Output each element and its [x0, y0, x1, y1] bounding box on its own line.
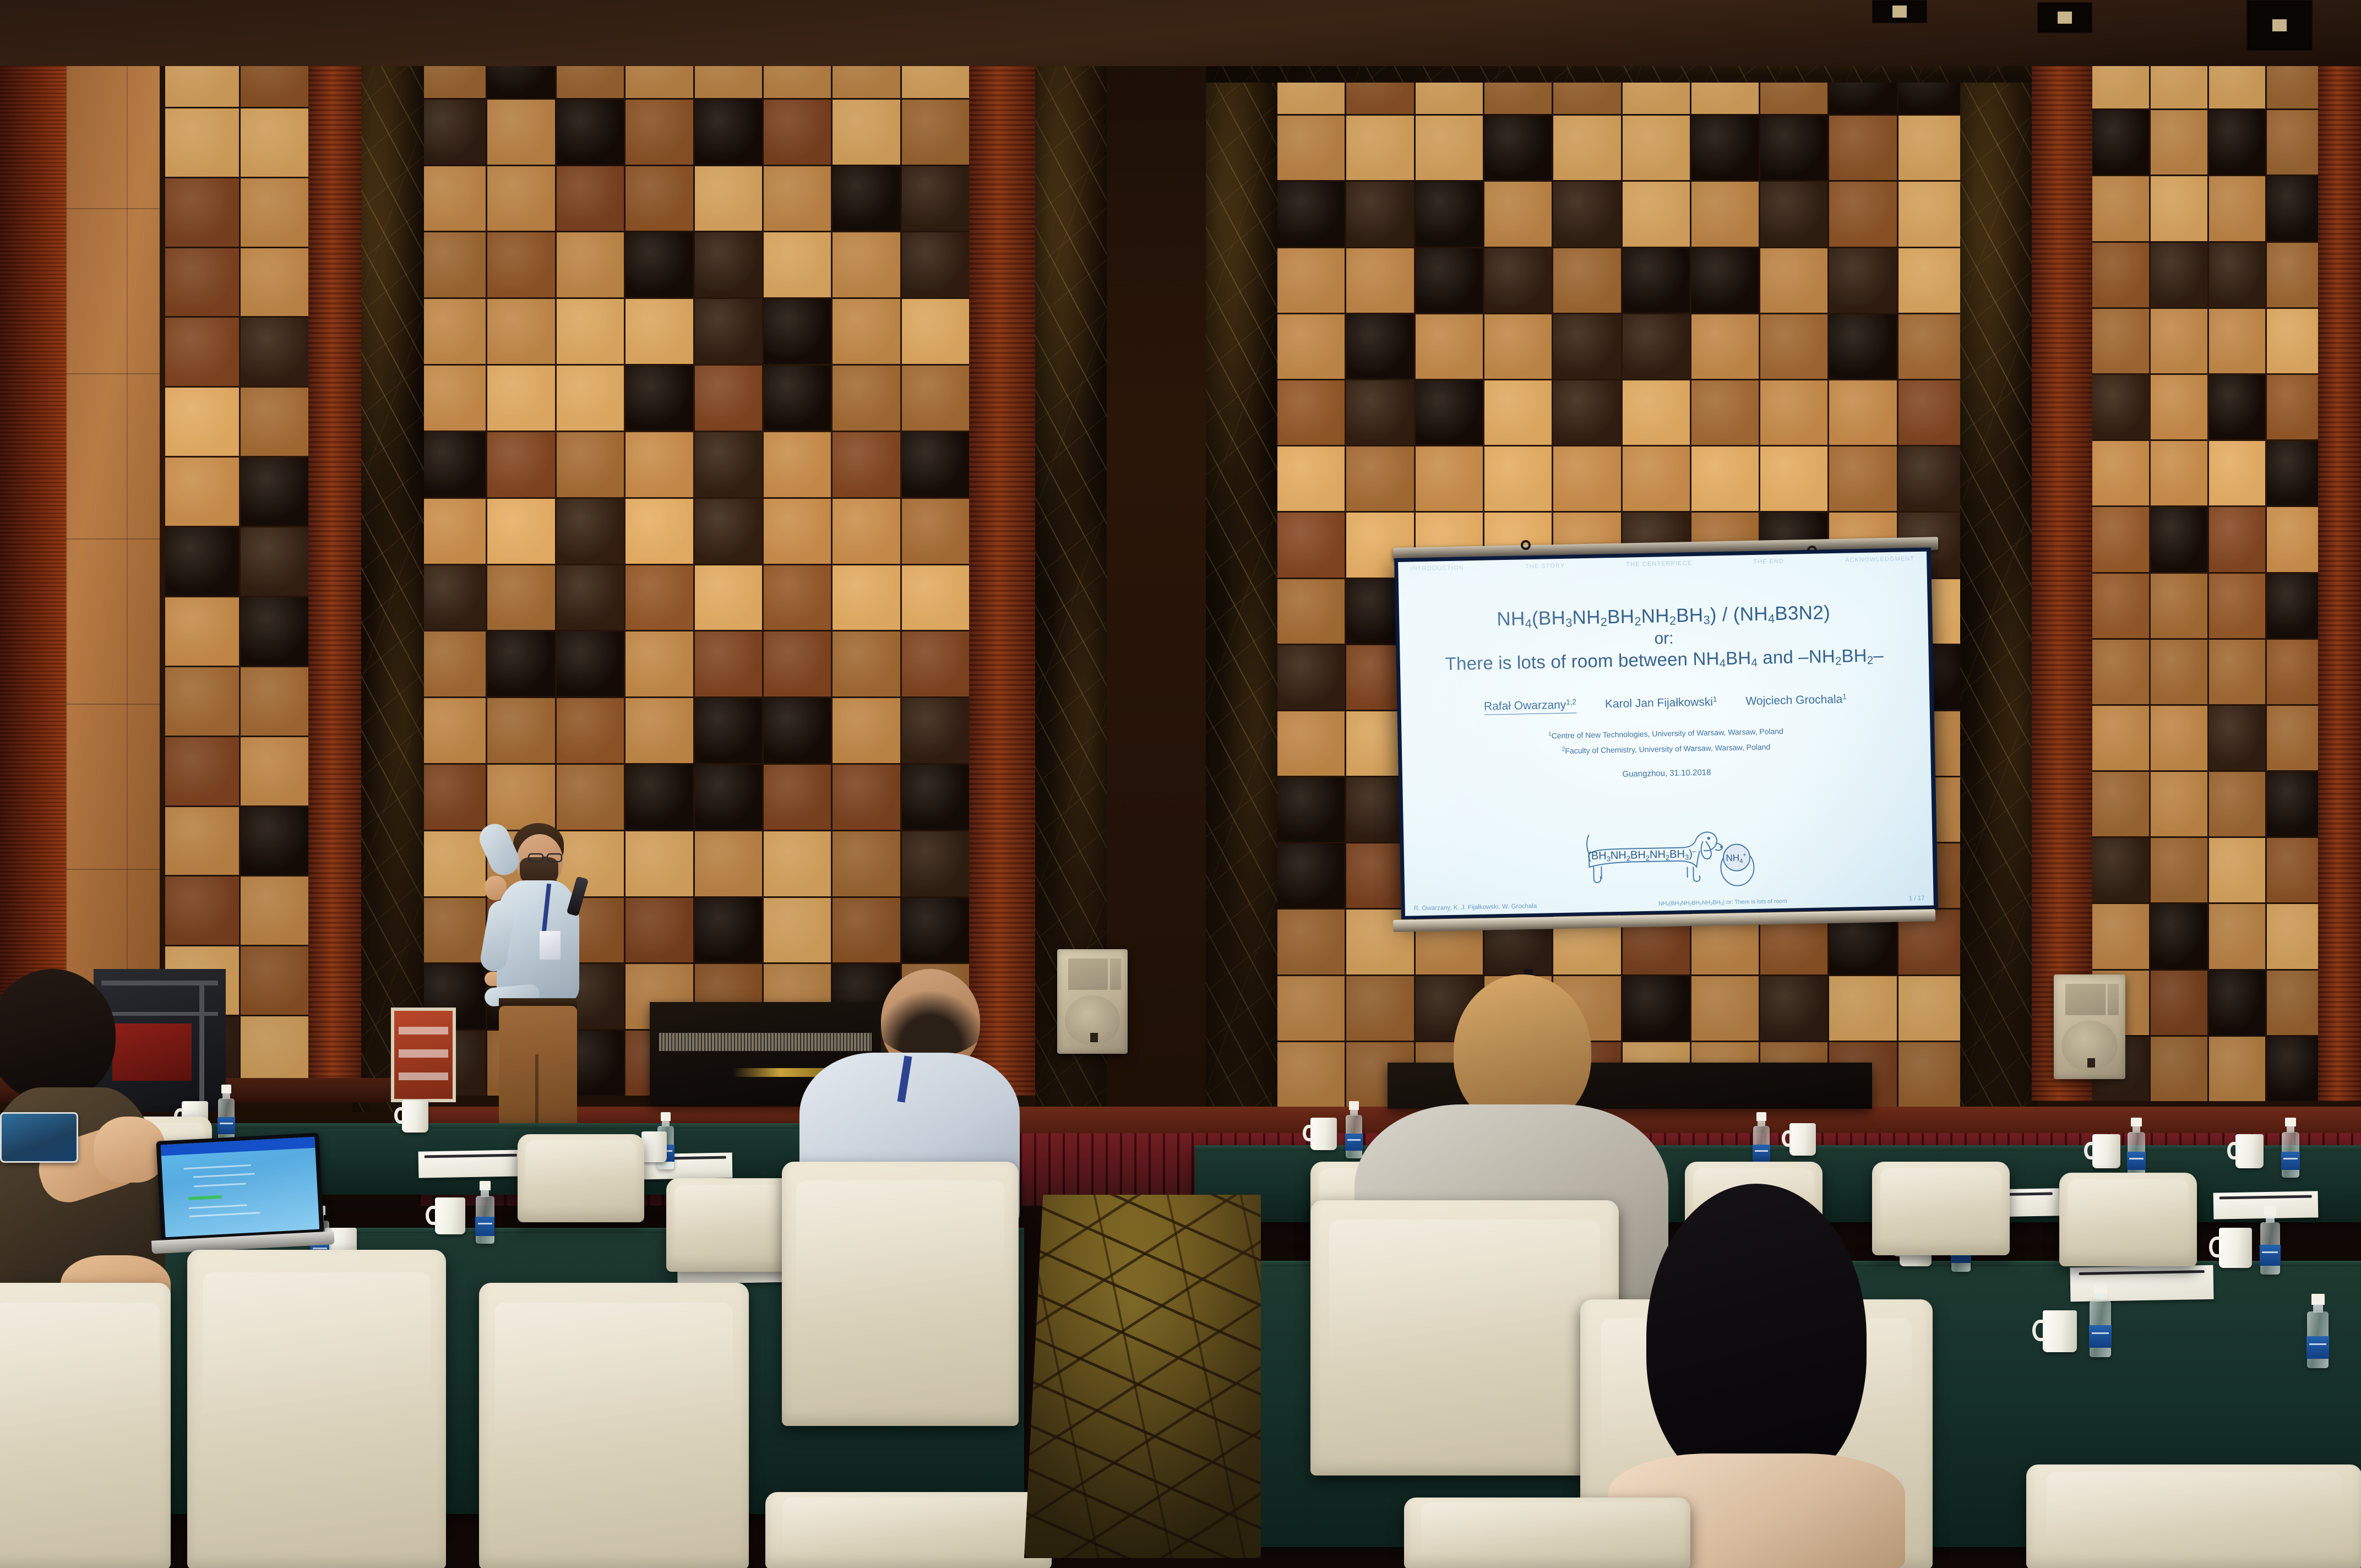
wall-tile: [2267, 110, 2324, 175]
wall-tile: [1346, 116, 1413, 180]
wall-tile: [1416, 182, 1483, 246]
chair-f2: [187, 1250, 446, 1568]
mug-body: [402, 1100, 428, 1133]
wall-tile: [487, 631, 554, 696]
wall-tile: [1553, 447, 1620, 511]
wall-tile: [902, 765, 969, 830]
wall-tile: [1898, 182, 1966, 246]
wall-tile: [1346, 447, 1413, 511]
wall-tile: [1623, 380, 1690, 445]
chair-f1: [0, 1283, 171, 1568]
bottle-cap: [2131, 1118, 2141, 1126]
wall-tile: [2151, 904, 2207, 968]
wall-tile: [764, 232, 831, 297]
wall-tile: [241, 597, 314, 666]
wall-tile: [833, 232, 900, 297]
audience-laptop-hand: [94, 1117, 165, 1183]
bottle-label: [2127, 1152, 2146, 1170]
wall-tile: [487, 698, 554, 763]
ballroom-carpet: [1024, 1195, 1261, 1558]
wall-tile: [764, 499, 831, 564]
wall-tile: [764, 100, 831, 165]
wood-divider-2: [969, 0, 1035, 1096]
wall-tile: [2209, 375, 2266, 439]
wall-tile: [487, 366, 554, 431]
mug-body: [435, 1197, 465, 1234]
poster-strip-3: [399, 1072, 448, 1080]
pen: [2219, 1195, 2311, 1199]
wall-tile: [487, 432, 554, 497]
marble-column-mid: [1035, 0, 1107, 1112]
chair-f4: [765, 1492, 1052, 1568]
wall-tile: [418, 765, 486, 830]
presenter-badge: [540, 931, 561, 960]
wall-tile: [625, 299, 693, 364]
wall-tile: [695, 765, 762, 830]
pen: [2079, 1270, 2205, 1275]
wall-tile: [1898, 447, 1966, 511]
wall-tile: [1898, 976, 1966, 1041]
wall-tile: [557, 765, 624, 830]
wall-tile: [2151, 309, 2207, 373]
chair-center: [782, 1162, 1019, 1426]
wall-tile: [557, 166, 624, 231]
ceiling-sensor-1: [1872, 0, 1927, 23]
wall-tile: [1623, 447, 1690, 511]
laptop[interactable]: [156, 1133, 324, 1241]
wall-tile: [165, 458, 239, 526]
wall-tile: [1277, 1042, 1345, 1107]
author-2: Karol Jan Fijałkowski1: [1605, 695, 1717, 712]
bottle-cap: [661, 1112, 671, 1121]
mug-body: [641, 1131, 667, 1162]
bottle-cap: [2094, 1283, 2107, 1294]
mug-body: [2092, 1134, 2120, 1168]
wall-tile: [165, 737, 239, 805]
wall-tile: [418, 366, 486, 431]
wall-tile: [695, 831, 762, 896]
wall-tile: [1484, 380, 1552, 445]
wall-tile: [241, 248, 314, 317]
wall-tile: [557, 499, 624, 564]
wall-tile: [1829, 447, 1896, 511]
wall-tile: [241, 667, 314, 736]
wall-tile: [2151, 507, 2207, 571]
wall-tile: [2151, 706, 2207, 770]
wall-tile: [902, 898, 969, 963]
wall-tile: [241, 876, 314, 945]
wall-tile: [241, 737, 314, 805]
wall-tile: [764, 299, 831, 364]
dachshund-icon: (BH3NH2BH2NH2BH3)– NH4+: [1569, 824, 1768, 893]
water-bottle: [2087, 1283, 2114, 1357]
wall-tile: [2209, 971, 2266, 1035]
marble-column-right: [1960, 0, 2037, 1118]
wall-tile: [902, 166, 969, 231]
bottle-cap: [2264, 1206, 2276, 1216]
wall-tile: [902, 432, 969, 497]
wall-tile: [764, 765, 831, 830]
bottle-cap: [480, 1181, 491, 1190]
wall-tile: [2209, 309, 2266, 373]
wall-tile: [1691, 976, 1759, 1041]
wall-tile: [2209, 507, 2266, 571]
wall-tile: [902, 565, 969, 630]
wall-tile: [1898, 248, 1966, 313]
bottle-cap: [2311, 1294, 2325, 1305]
wall-tile: [1760, 447, 1827, 511]
wall-tile: [833, 166, 900, 231]
bottle-label: [2089, 1325, 2112, 1348]
wall-tile: [241, 458, 314, 526]
wall-tile: [165, 248, 239, 317]
wall-tile: [1416, 116, 1483, 180]
wall-tile: [764, 698, 831, 763]
wall-tile: [487, 499, 554, 564]
wall-tile: [1898, 380, 1966, 445]
wall-tile: [557, 366, 624, 431]
wall-tile: [1829, 314, 1896, 379]
wall-tile: [2151, 640, 2207, 704]
wall-tile: [557, 100, 624, 165]
wood-divider-3: [2032, 0, 2092, 1101]
wall-tile: [1277, 380, 1345, 445]
mug-handle: [2032, 1320, 2046, 1341]
wall-tile: [1277, 843, 1345, 908]
slide-surface: Introduction The Story The Centerpiece T…: [1398, 552, 1934, 916]
wall-tile: [833, 831, 900, 896]
wall-tile: [487, 232, 554, 297]
slide-affiliations: 1Centre of New Technologies, University …: [1401, 720, 1930, 761]
wall-tile: [241, 108, 314, 177]
wall-tile: [695, 565, 762, 630]
conference-room-scene: Introduction The Story The Centerpiece T…: [0, 0, 2361, 1568]
wall-tile: [2267, 574, 2324, 638]
slide-place-date: Guangzhou, 31.10.2018: [1402, 763, 1931, 783]
wall-tile: [418, 631, 486, 696]
mug-handle: [426, 1206, 437, 1225]
wall-tile: [1898, 314, 1966, 379]
wall-tile: [764, 166, 831, 231]
wall-tile: [487, 166, 554, 231]
wall-tile: [625, 565, 693, 630]
mug-body: [2219, 1228, 2252, 1268]
audience-longhair-hair: [1646, 1184, 1867, 1492]
marble-column-left: [352, 0, 424, 1112]
ceiling-sensor-2: [2037, 2, 2092, 33]
presenter: [485, 823, 628, 1153]
wall-tile: [2092, 838, 2149, 902]
wall-tile: [2092, 243, 2149, 307]
wall-tile: [1691, 248, 1759, 313]
wall-tile: [1277, 777, 1345, 842]
wall-tile: [2267, 243, 2324, 307]
wall-tile: [833, 366, 900, 431]
screen-hook-left: [1521, 540, 1531, 550]
wall-tile: [764, 831, 831, 896]
wall-tile: [1484, 447, 1552, 511]
wall-tile: [1277, 513, 1345, 577]
wall-tile: [165, 597, 239, 666]
wall-tile: [625, 898, 693, 963]
wall-tile: [418, 565, 486, 630]
wall-tile: [1760, 976, 1827, 1041]
wall-tile: [902, 366, 969, 431]
chair-f5: [1404, 1498, 1690, 1568]
wall-tile: [418, 831, 486, 896]
wall-tile: [2151, 375, 2207, 439]
wall-tile: [1623, 116, 1690, 180]
wall-checker-panel-4: [165, 39, 314, 1085]
wall-tile: [2267, 640, 2324, 704]
wall-tile: [1623, 182, 1690, 246]
coffee-mug: [1310, 1118, 1337, 1150]
wall-tile: [165, 108, 239, 177]
wall-tile: [764, 432, 831, 497]
speaker-badge: [2087, 1058, 2095, 1068]
wall-tile: [902, 631, 969, 696]
wall-tile: [418, 232, 486, 297]
wall-tile: [557, 299, 624, 364]
wall-tile: [902, 299, 969, 364]
wall-tile: [695, 432, 762, 497]
pen: [425, 1153, 516, 1158]
wall-tile: [695, 898, 762, 963]
mug-handle: [2227, 1142, 2238, 1159]
chair-blond: [1310, 1200, 1619, 1476]
wall-tile: [2209, 838, 2266, 902]
laptop-lid: [156, 1133, 324, 1241]
wall-tile: [833, 765, 900, 830]
wall-tile: [487, 565, 554, 630]
wall-tile: [902, 698, 969, 763]
wall-tile: [1760, 380, 1827, 445]
wall-tile: [165, 318, 239, 386]
wall-tile: [2092, 507, 2149, 571]
notepad: [418, 1150, 524, 1178]
wall-tile: [1760, 182, 1827, 246]
water-bottle: [2125, 1118, 2147, 1178]
footer-authors: R. Owarzany, K. J. Fijałkowski, W. Groch…: [1414, 903, 1537, 912]
wall-tile: [1691, 182, 1759, 246]
wall-tile: [695, 166, 762, 231]
wall-tile: [2151, 574, 2207, 638]
wall-tile: [241, 1016, 314, 1085]
wall-tile: [557, 432, 624, 497]
wall-tile: [695, 698, 762, 763]
pa-speaker-left: [1057, 949, 1128, 1054]
wall-tile: [2209, 243, 2266, 307]
phone-screen[interactable]: [2, 1114, 77, 1161]
water-bottle: [474, 1181, 497, 1244]
bottle-label: [475, 1217, 494, 1235]
wall-tile: [1553, 182, 1620, 246]
wall-tile: [1691, 447, 1759, 511]
wall-tile: [2267, 971, 2324, 1035]
wall-tile: [2151, 838, 2207, 902]
wall-tile: [2209, 574, 2266, 638]
ceiling: [0, 0, 2361, 66]
wall-tile: [418, 698, 486, 763]
wall-tile: [241, 388, 314, 456]
wall-tile: [1623, 248, 1690, 313]
wood-divider-1: [308, 0, 361, 1096]
water-bottle: [2280, 1118, 2302, 1178]
wall-tile: [625, 698, 693, 763]
wall-tile: [764, 898, 831, 963]
wall-tile: [165, 527, 239, 596]
wall-tile: [695, 299, 762, 364]
wall-tile: [1760, 314, 1827, 379]
chair-f3: [479, 1283, 749, 1568]
wall-tile: [833, 100, 900, 165]
wall-tile: [165, 388, 239, 456]
wall-tile: [1898, 1042, 1966, 1107]
chair-b2: [518, 1134, 644, 1222]
coffee-mug: [641, 1131, 667, 1162]
water-bottle: [2304, 1294, 2331, 1368]
wall-tile: [1277, 711, 1345, 776]
speaker-tweeter: [1110, 959, 1121, 990]
mug-handle: [2084, 1142, 2095, 1159]
wall-tile: [241, 527, 314, 596]
wall-tile: [1829, 976, 1896, 1041]
mug-body: [2235, 1134, 2264, 1168]
wall-tile: [1277, 248, 1345, 313]
wall-tile: [625, 232, 693, 297]
wall-tile: [1346, 182, 1413, 246]
wall-tile: [1484, 182, 1552, 246]
dachshund-anion-figure: (BH3NH2BH2NH2BH3)– NH4+: [1569, 824, 1768, 893]
wall-tile: [695, 366, 762, 431]
tan-wall-panel: [66, 0, 160, 1035]
coffee-mug: [2092, 1134, 2120, 1168]
bottle-label: [2281, 1152, 2300, 1170]
wall-tile: [1484, 116, 1552, 180]
bottle-label: [2306, 1336, 2329, 1359]
wood-divider-4: [2318, 0, 2361, 1101]
wall-tile: [2151, 243, 2207, 307]
wall-tile: [1277, 579, 1345, 644]
ceiling-sensor-3: [2246, 0, 2313, 51]
nav-the-end: The End: [1753, 558, 1785, 574]
bottle-cap: [1756, 1112, 1766, 1121]
author-1: Rafał Owarzany1,2: [1484, 698, 1577, 715]
laptop-screen[interactable]: [161, 1137, 319, 1237]
presenter-glasses-icon: [527, 852, 567, 864]
coffee-mug: [2043, 1310, 2077, 1352]
wall-tile: [625, 166, 693, 231]
wall-tile: [1277, 116, 1345, 180]
wall-tile: [2151, 971, 2207, 1035]
wall-tile: [2092, 574, 2149, 638]
wall-tile: [1346, 314, 1413, 379]
wall-tile: [1760, 116, 1827, 180]
wall-tile: [2267, 904, 2324, 968]
wall-tile: [695, 100, 762, 165]
wall-tile: [2151, 176, 2207, 241]
wall-tile: [833, 432, 900, 497]
wall-tile: [833, 565, 900, 630]
wall-tile: [902, 232, 969, 297]
wall-tile: [833, 631, 900, 696]
wall-tile: [1416, 447, 1483, 511]
wall-tile: [241, 946, 314, 1015]
wall-tile: [1553, 116, 1620, 180]
wall-tile: [625, 831, 693, 896]
wall-tile: [2092, 904, 2149, 968]
wall-tile: [695, 499, 762, 564]
wall-tile: [1277, 645, 1345, 710]
wall-tile: [1623, 314, 1690, 379]
wall-tile: [902, 831, 969, 896]
wall-tile: [1277, 910, 1345, 974]
wall-tile: [2151, 1037, 2207, 1101]
wall-tile: [165, 876, 239, 945]
wall-tile: [2092, 176, 2149, 241]
wall-tile: [418, 499, 486, 564]
wall-tile: [1416, 380, 1483, 445]
wall-tile: [2267, 507, 2324, 571]
wall-tile: [2209, 706, 2266, 770]
wall-tile: [2209, 110, 2266, 175]
wall-tile: [2092, 706, 2149, 770]
wall-tile: [1760, 248, 1827, 313]
projection-screen: Introduction The Story The Centerpiece T…: [1394, 547, 1938, 919]
wall-tile: [1553, 248, 1620, 313]
wall-tile: [418, 432, 486, 497]
wall-tile: [2092, 110, 2149, 175]
wall-tile: [2267, 309, 2324, 373]
smartphone[interactable]: [0, 1112, 78, 1163]
wall-tile: [695, 232, 762, 297]
wall-tile: [2267, 772, 2324, 836]
wall-tile: [557, 631, 624, 696]
wall-tile: [625, 631, 693, 696]
wall-tile: [1416, 248, 1483, 313]
footer-title: NH4(BH3NH2BH2NH2BH3) or: There is lots o…: [1658, 898, 1787, 907]
wall-tile: [1829, 182, 1896, 246]
wall-tile: [1829, 248, 1896, 313]
wall-tile: [557, 232, 624, 297]
wall-tile: [557, 565, 624, 630]
wall-tile: [418, 166, 486, 231]
wall-tile: [625, 432, 693, 497]
wall-tile: [2151, 110, 2207, 175]
poster-board: [391, 1008, 456, 1102]
wall-tile: [1691, 314, 1759, 379]
wall-tile: [2092, 772, 2149, 836]
wall-tile: [2209, 441, 2266, 505]
wall-tile: [2267, 176, 2324, 241]
wall-tile: [764, 366, 831, 431]
wall-tile: [487, 299, 554, 364]
slide-author-list: Rafał Owarzany1,2 Karol Jan Fijałkowski1…: [1401, 690, 1929, 716]
wall-tile: [2092, 375, 2149, 439]
audience-center-hair-fringe: [875, 991, 986, 1057]
wall-tile: [2267, 375, 2324, 439]
wall-tile: [902, 100, 969, 165]
wall-tile: [625, 499, 693, 564]
speaker-tweeter: [2108, 984, 2119, 1015]
mug-handle: [2209, 1237, 2222, 1257]
pa-speaker-right: [2054, 974, 2125, 1079]
wall-tile: [418, 299, 486, 364]
wall-tile: [625, 100, 693, 165]
nav-introduction: Introduction: [1410, 564, 1464, 581]
wall-tile: [2209, 772, 2266, 836]
wall-tile: [1346, 380, 1413, 445]
